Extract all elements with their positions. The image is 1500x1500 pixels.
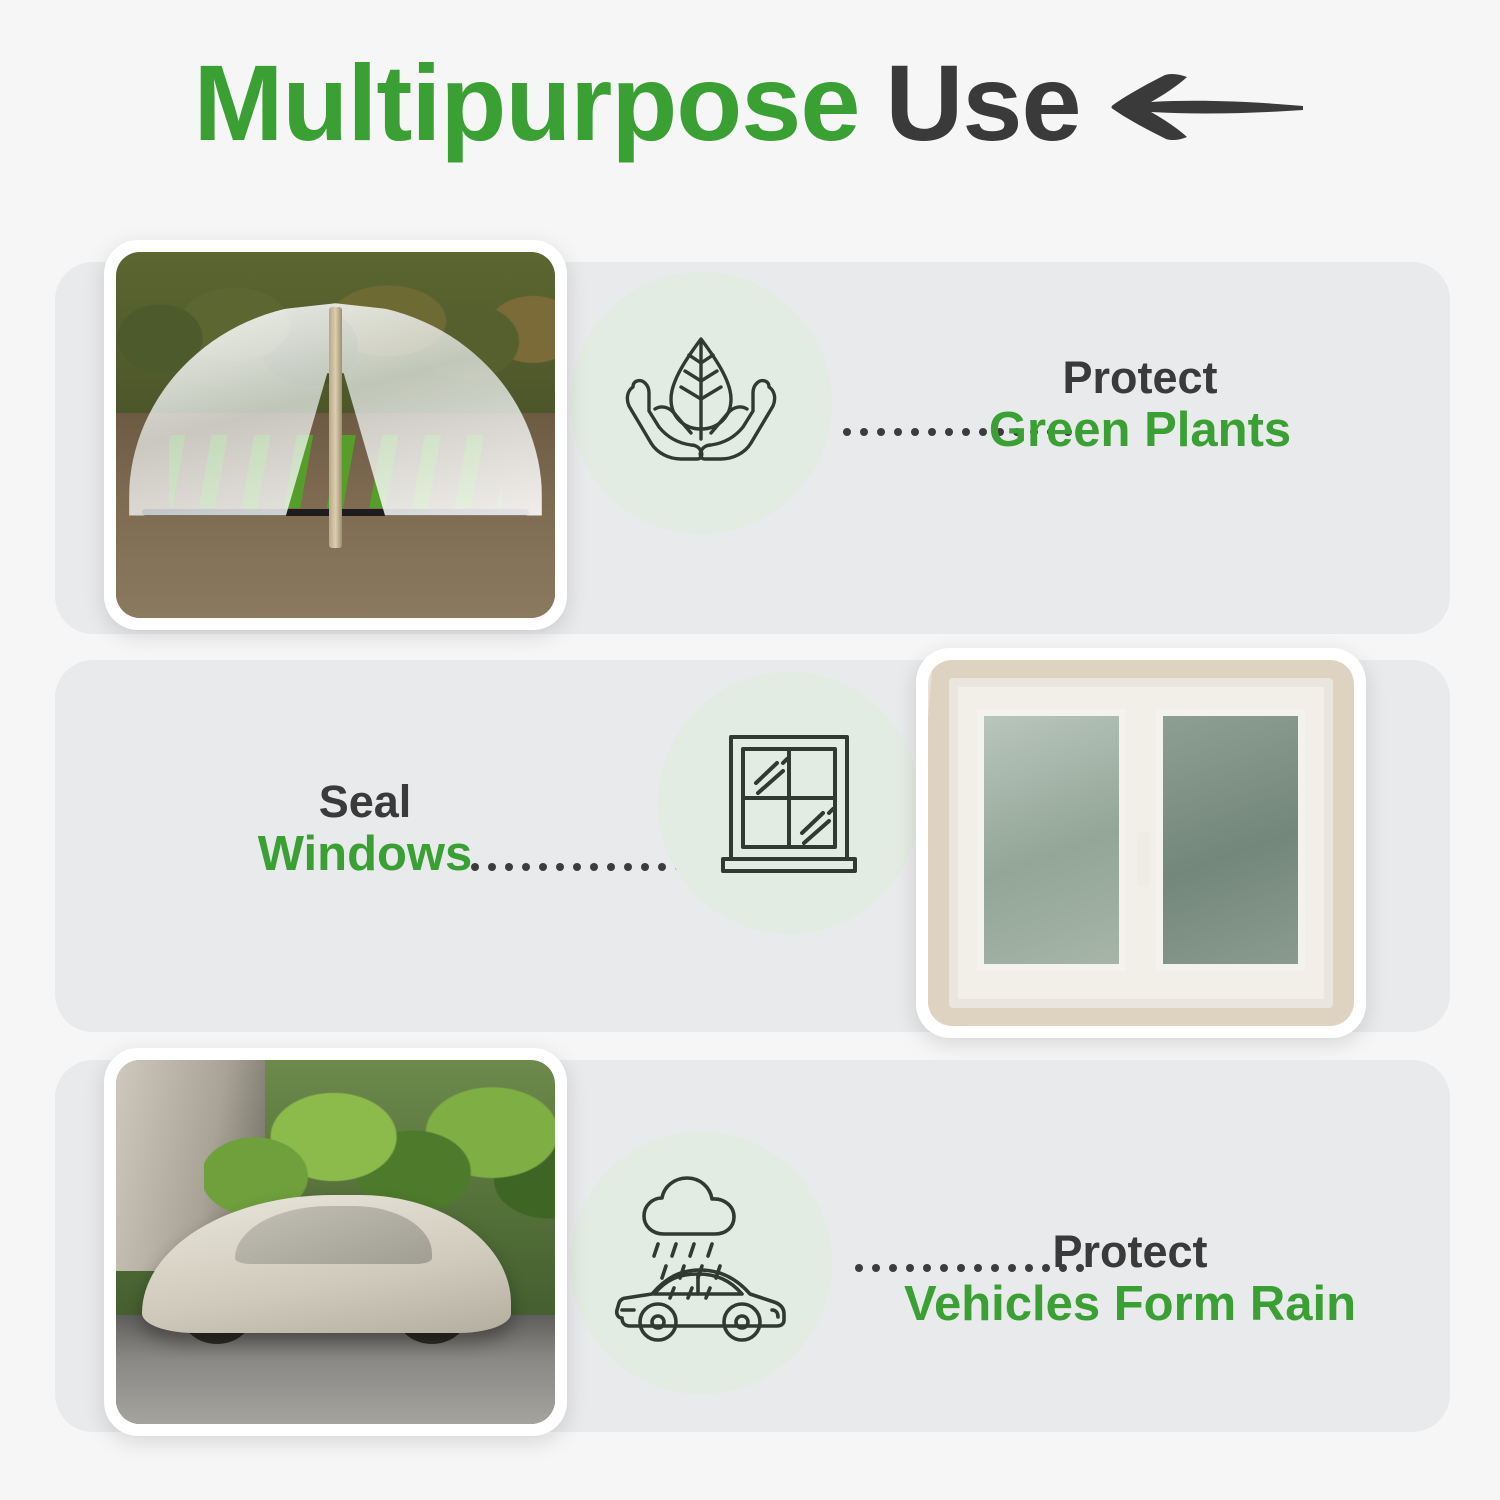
feature-label-1: Protect Green Plants xyxy=(890,352,1390,459)
feature-label-1-bottom: Green Plants xyxy=(890,403,1390,459)
title-green-word: Multipurpose xyxy=(193,46,859,159)
feature-label-3-bottom: Vehicles Form Rain xyxy=(880,1277,1380,1333)
title-dark-word: Use xyxy=(885,46,1080,159)
rain-cloud-over-car-icon xyxy=(570,1132,832,1394)
window-sealed-with-film-photo xyxy=(916,648,1366,1038)
infographic-canvas: Multipurpose Use xyxy=(0,0,1500,1500)
page-title: Multipurpose Use xyxy=(0,46,1500,159)
feature-label-2-top: Seal xyxy=(115,776,615,827)
feature-label-1-top: Protect xyxy=(890,352,1390,403)
feature-label-3: Protect Vehicles Form Rain xyxy=(880,1226,1380,1333)
feature-label-2-bottom: Windows xyxy=(115,827,615,883)
left-arrow-icon xyxy=(1107,72,1307,147)
greenhouse-plastic-cover-photo xyxy=(104,240,567,630)
car-covered-with-plastic-photo xyxy=(104,1048,567,1436)
hands-holding-leaf-icon xyxy=(570,272,832,534)
window-icon xyxy=(658,672,920,934)
feature-label-3-top: Protect xyxy=(880,1226,1380,1277)
connector-dots-2 xyxy=(471,863,683,871)
